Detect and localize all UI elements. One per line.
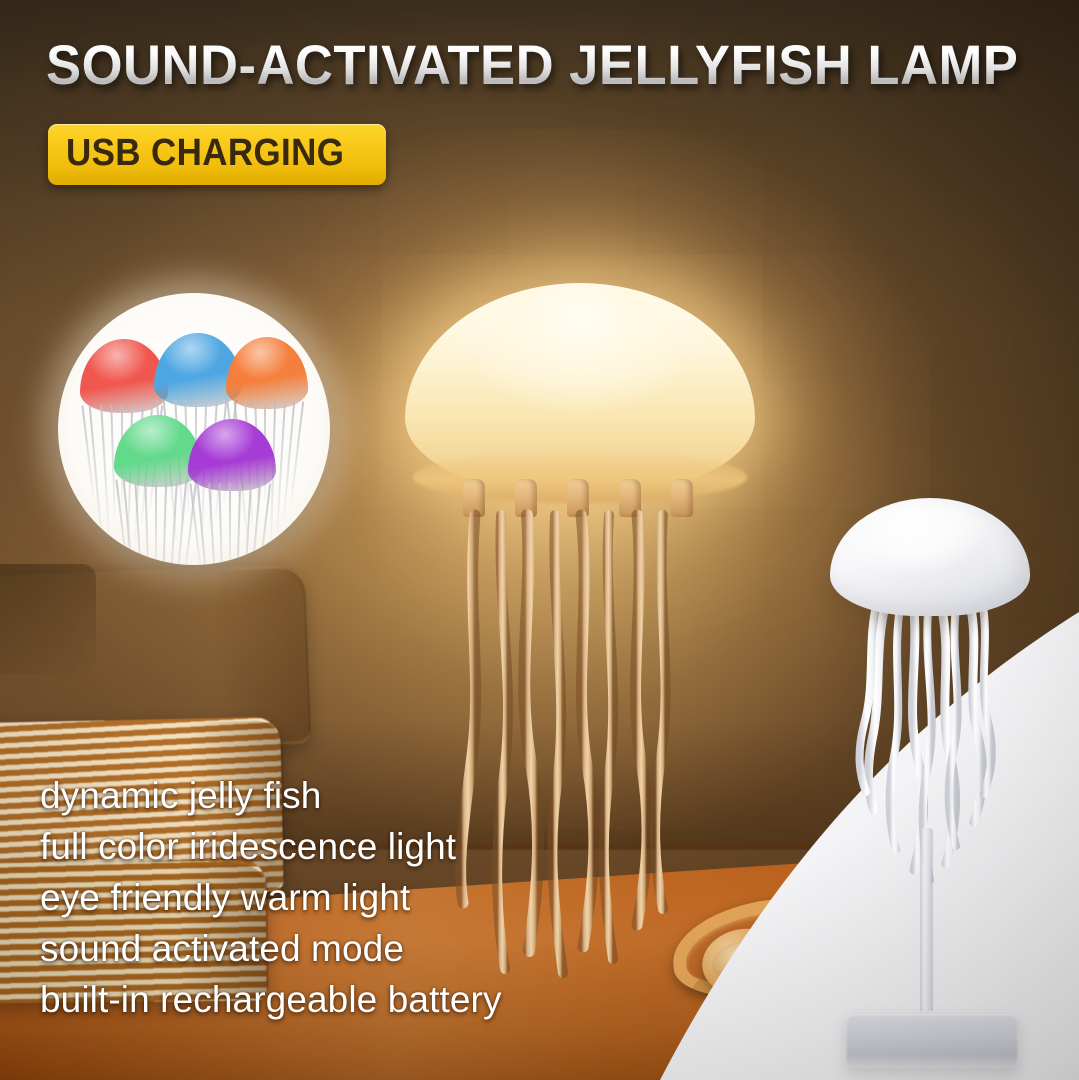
feature-item: dynamic jelly fish [40, 775, 502, 817]
feature-list: dynamic jelly fishfull color iridescence… [40, 775, 502, 1021]
product-poster: SOUND-ACTIVATED JELLYFISH LAMP USB CHARG… [0, 0, 1079, 1080]
feature-item: eye friendly warm light [40, 877, 502, 919]
feature-item: built-in rechargeable battery [40, 979, 502, 1021]
page-title: SOUND-ACTIVATED JELLYFISH LAMP [46, 36, 1018, 94]
usb-charging-badge-label: USB CHARGING [66, 132, 344, 175]
feature-item: sound activated mode [40, 928, 502, 970]
feature-item: full color iridescence light [40, 826, 502, 868]
usb-charging-badge: USB CHARGING [48, 124, 386, 185]
